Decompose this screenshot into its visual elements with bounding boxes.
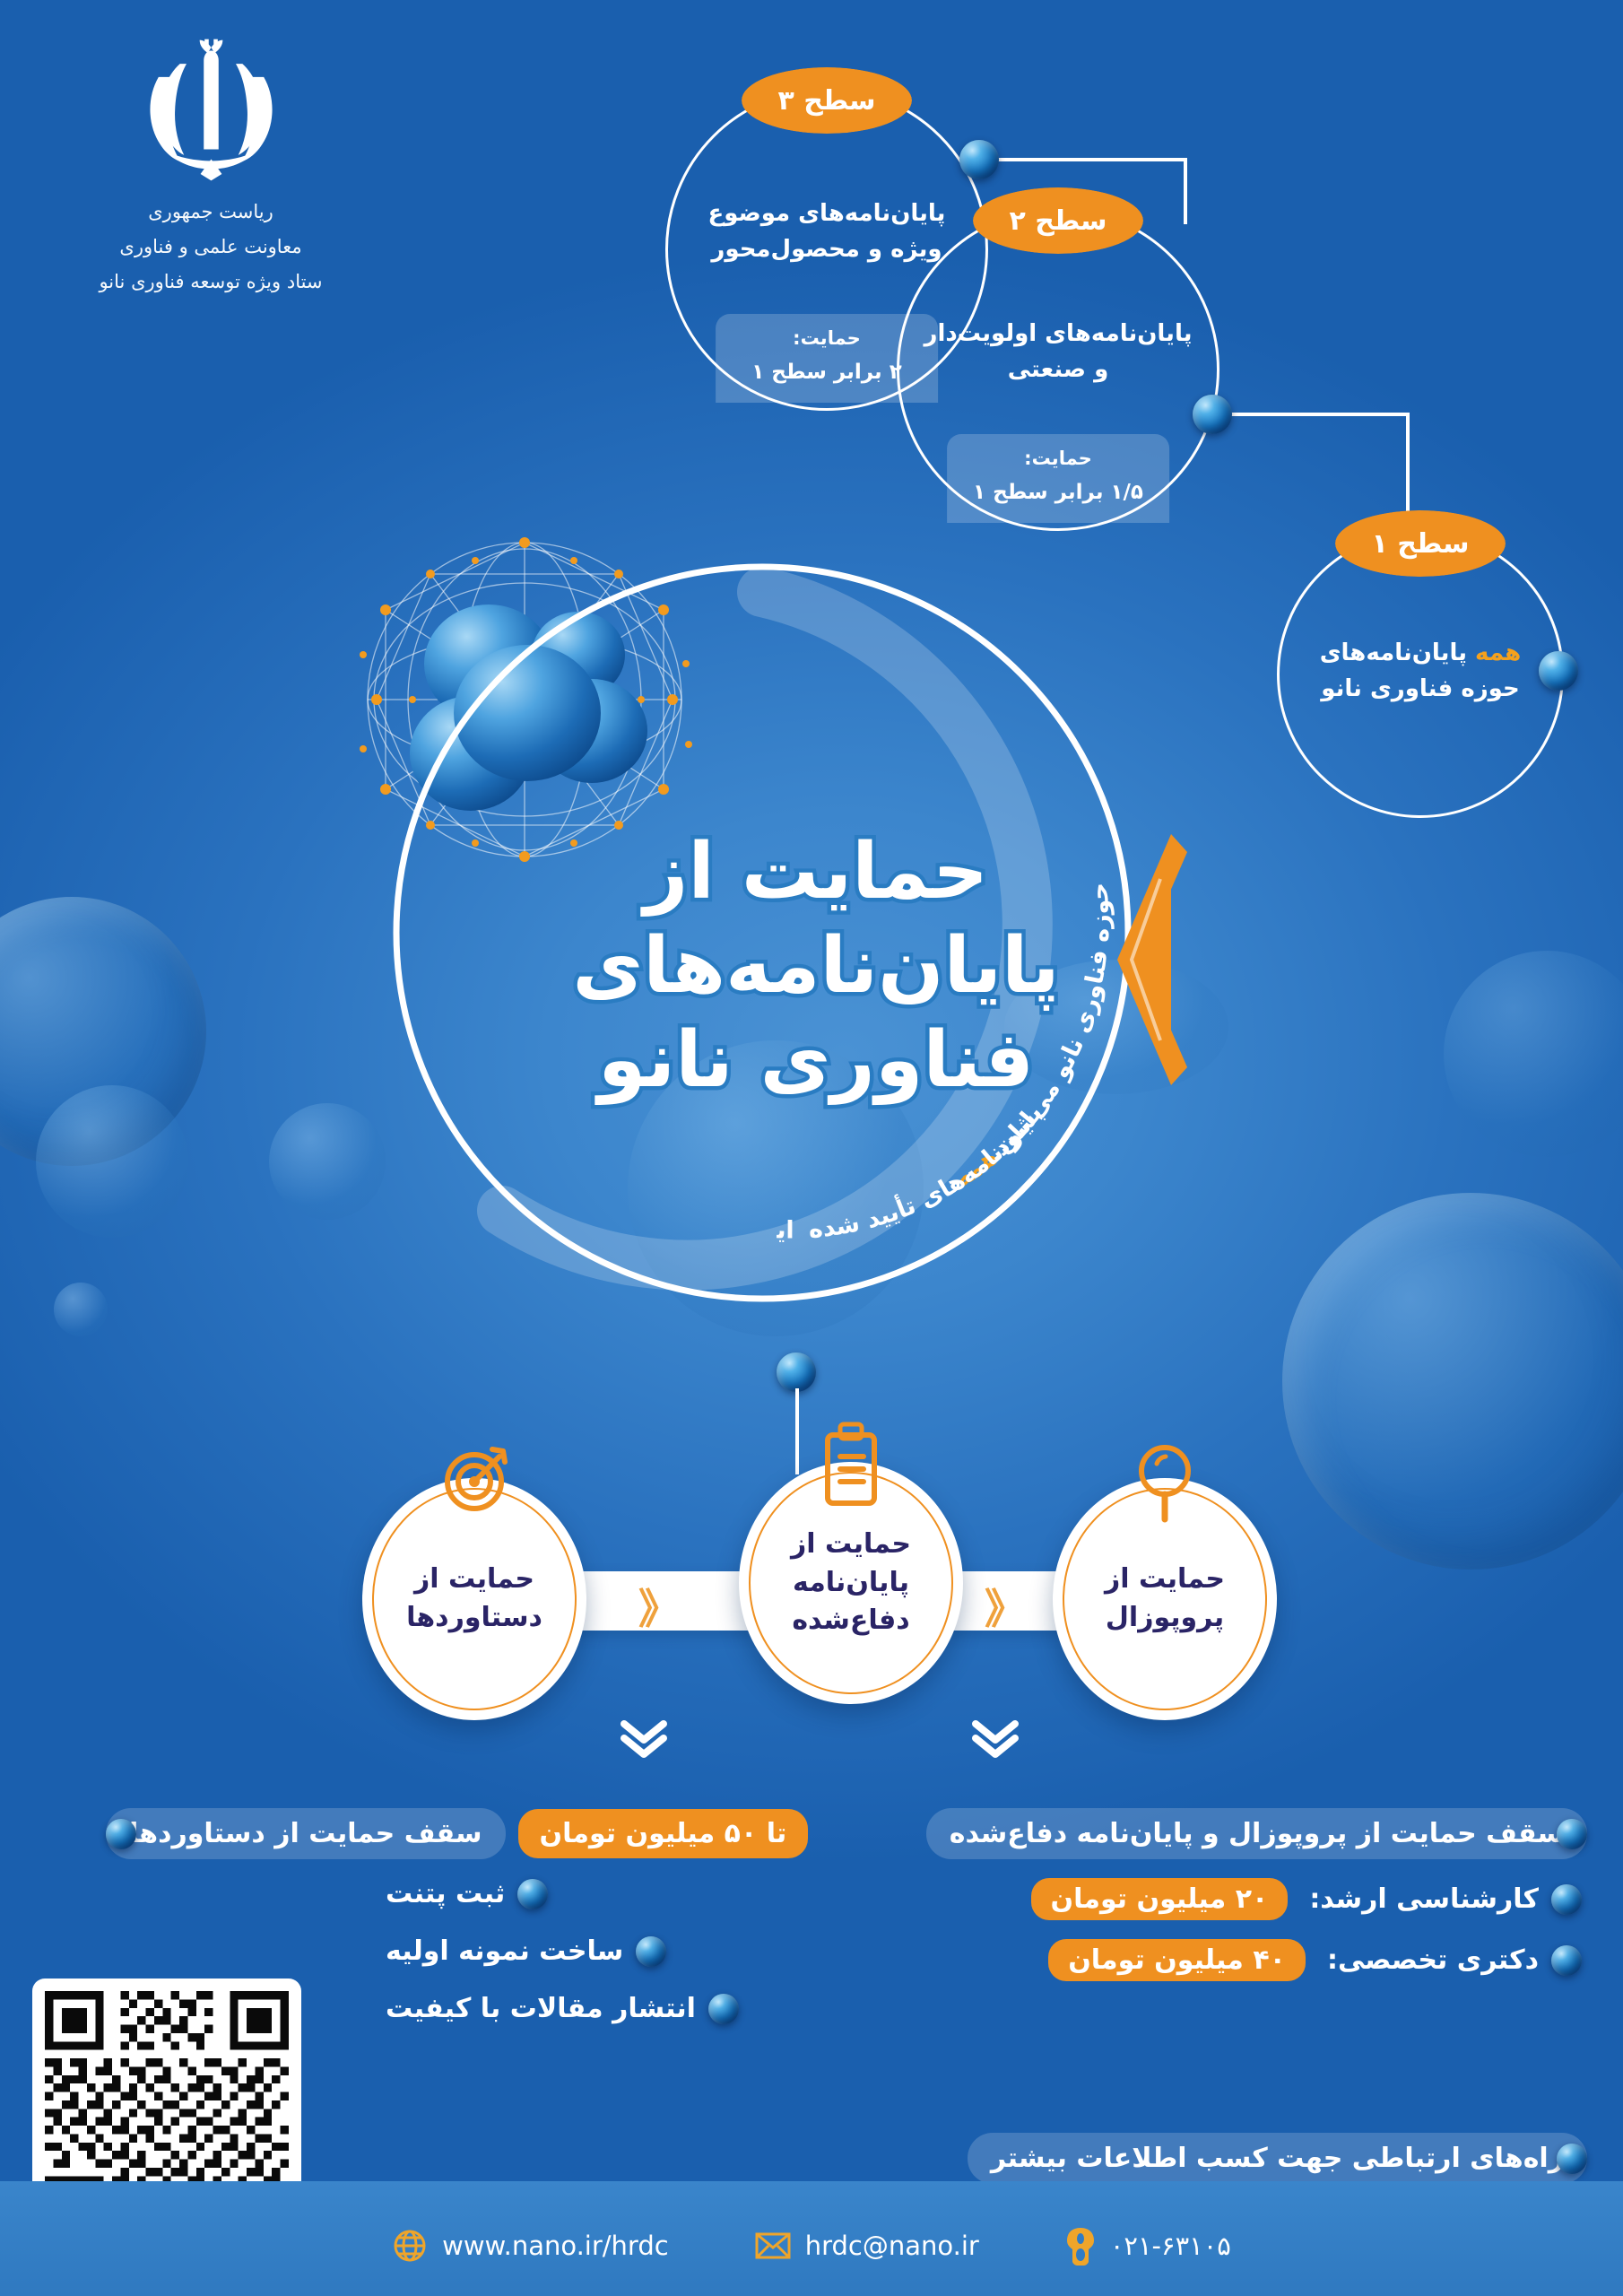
decorative-bubble <box>0 897 206 1166</box>
stage-defended-thesis-line-2: پایان‌نامه <box>793 1567 909 1598</box>
stage-defended-thesis-line-3: دفاع‌شده <box>792 1605 909 1636</box>
stage-defended-thesis-label: حمایت از پایان‌نامه دفاع‌شده <box>773 1526 929 1640</box>
target-icon <box>433 1437 516 1519</box>
support-cap-left-item: ساخت نمونه اولیه <box>386 1935 666 1967</box>
level-3-title: پایان‌نامه‌های موضوع ویژه و محصول‌محور <box>687 196 967 268</box>
decorative-bubble <box>269 1103 386 1220</box>
bullet-sphere-icon <box>708 1994 739 2024</box>
bullet-sphere-icon <box>1551 1945 1582 1976</box>
chevron-down-icon <box>619 1718 669 1758</box>
support-cap-right-item: دکتری تخصصی: ۴۰ میلیون تومان <box>1048 1939 1582 1981</box>
logo-line-2: معاونت علمی و فناوری <box>99 230 323 265</box>
ring-bottom-node <box>777 1352 816 1392</box>
svg-text:همه: همه <box>950 1144 1003 1194</box>
page-title: حمایت از پایان‌نامه‌های فناوری نانو <box>502 825 1130 1108</box>
level-2-circle[interactable]: سطح ۲ پایان‌نامه‌های اولویت‌دار و صنعتی … <box>897 208 1219 531</box>
stage-achievements-label: حمایت از دستاوردها <box>388 1561 560 1637</box>
ring-text-segment-3: پایان‌نامه‌های تأیید شده <box>808 1100 1048 1244</box>
level-2-support: حمایت: ۱/۵ برابر سطح ۱ <box>947 434 1169 523</box>
iran-national-emblem-icon <box>128 36 294 184</box>
website-text: www.nano.ir/hrdc <box>442 2231 669 2261</box>
support-cap-left-item: ثبت پتنت <box>386 1878 548 1909</box>
stage-bridge-chevron-right: 《 <box>985 1577 1026 1636</box>
level-1-title-rest: پایان‌نامه‌های <box>1320 639 1467 666</box>
stage-bridge-chevron-left: 《 <box>638 1577 680 1636</box>
bullet-sphere-icon <box>1557 2144 1587 2174</box>
decorative-bubble <box>54 1283 108 1336</box>
support-cap-right-item: کارشناسی ارشد: ۲۰ میلیون تومان <box>1031 1878 1582 1920</box>
contact-heading: راه‌های ارتباطی جهت کسب اطلاعات بیشتر <box>968 2133 1587 2184</box>
support-cap-left-item: انتشار مقالات با کیفیت <box>386 1993 739 2024</box>
ring-to-stage-connector <box>795 1388 799 1474</box>
support-cap-left-header: سقف حمایت از دستاوردها تا ۵۰ میلیون توما… <box>106 1808 817 1859</box>
level-2-title: پایان‌نامه‌های اولویت‌دار و صنعتی <box>918 316 1198 388</box>
bullet-sphere-icon <box>636 1936 666 1967</box>
phone-text: ۰۲۱-۶۳۱۰۵ <box>1110 2231 1231 2261</box>
level-1-badge: سطح ۱ <box>1335 510 1506 577</box>
stage-achievements-card[interactable]: حمایت از دستاوردها <box>362 1478 586 1720</box>
stage-achievements-line-1: حمایت از <box>414 1563 534 1595</box>
title-line-3: فناوری نانو <box>502 1013 1130 1108</box>
level-1-title: همه پایان‌نامه‌های حوزه فناوری نانو <box>1297 635 1544 708</box>
clipboard-icon <box>813 1421 889 1510</box>
stage-defended-thesis-line-1: حمایت از <box>791 1528 911 1560</box>
title-line-1: حمایت از <box>502 825 1130 919</box>
level-2-badge: سطح ۲ <box>973 187 1143 254</box>
level-1-title-highlight: همه <box>1475 639 1521 666</box>
bullet-sphere-icon <box>1551 1884 1582 1915</box>
organization-logo: ریاست جمهوری معاونت علمی و فناوری ستاد و… <box>99 36 323 300</box>
level-1-circle[interactable]: سطح ۱ همه پایان‌نامه‌های حوزه فناوری نان… <box>1277 531 1564 818</box>
level-3-node-sphere <box>959 140 999 179</box>
stage-proposal-line-1: حمایت از <box>1105 1563 1225 1595</box>
stage-achievements-line-2: دستاوردها <box>406 1602 542 1633</box>
svg-text:پایان‌نامه‌های تأیید شده: پایان‌نامه‌های تأیید شده <box>808 1100 1048 1244</box>
chevron-down-icon <box>970 1718 1020 1758</box>
masters-label: کارشناسی ارشد: <box>1309 1883 1539 1915</box>
level-2-support-label: حمایت: <box>1024 448 1092 469</box>
globe-icon <box>392 2228 428 2264</box>
patent-label: ثبت پتنت <box>386 1878 505 1909</box>
telephone-icon <box>1065 2226 1096 2266</box>
prototype-label: ساخت نمونه اولیه <box>386 1935 623 1967</box>
poster-canvas: ریاست جمهوری معاونت علمی و فناوری ستاد و… <box>0 0 1623 2296</box>
support-cap-left-heading: سقف حمایت از دستاوردها <box>106 1808 506 1859</box>
support-cap-right-heading: سقف حمایت از پروپوزال و پایان‌نامه دفاع‌… <box>926 1808 1587 1859</box>
level-2-support-amount: ۱/۵ برابر سطح ۱ <box>952 475 1164 510</box>
email-text: hrdc@nano.ir <box>805 2231 979 2261</box>
level-1-node-sphere <box>1539 651 1578 691</box>
stage-proposal-label: حمایت از پروپوزال <box>1087 1561 1243 1637</box>
bullet-sphere-icon <box>1557 1819 1587 1849</box>
footer-phone[interactable]: ۰۲۱-۶۳۱۰۵ <box>1065 2226 1231 2266</box>
footer-website[interactable]: www.nano.ir/hrdc <box>392 2228 669 2264</box>
bullet-sphere-icon <box>106 1819 136 1849</box>
decorative-bubble <box>36 1085 188 1238</box>
phd-amount: ۴۰ میلیون تومان <box>1048 1939 1306 1981</box>
phd-label: دکتری تخصصی: <box>1327 1944 1539 1976</box>
contact-header: راه‌های ارتباطی جهت کسب اطلاعات بیشتر <box>968 2133 1587 2184</box>
level-1-title-line2: حوزه فناوری نانو <box>1321 675 1519 702</box>
level-2-node-sphere <box>1193 395 1232 434</box>
title-line-2: پایان‌نامه‌های <box>502 919 1130 1013</box>
logo-line-1: ریاست جمهوری <box>99 195 323 230</box>
achievements-cap-badge: تا ۵۰ میلیون تومان <box>518 1809 809 1858</box>
magnifier-icon <box>1126 1437 1203 1526</box>
stage-proposal-card[interactable]: حمایت از پروپوزال <box>1053 1478 1277 1720</box>
support-cap-right-header: سقف حمایت از پروپوزال و پایان‌نامه دفاع‌… <box>926 1808 1587 1859</box>
footer-contact-list: www.nano.ir/hrdc hrdc@nano.ir ۰۲۱-۶۳۱۰۵ <box>0 2226 1623 2266</box>
stage-proposal-line-2: پروپوزال <box>1106 1602 1224 1633</box>
ring-text-highlight: همه <box>950 1144 1003 1194</box>
logo-line-3: ستاد ویژه توسعه فناوری نانو <box>99 265 323 300</box>
decorative-bubble <box>1444 951 1623 1157</box>
envelope-icon <box>755 2231 791 2260</box>
decorative-bubble <box>1282 1193 1623 1570</box>
level-3-badge: سطح ۳ <box>742 67 912 134</box>
masters-amount: ۲۰ میلیون تومان <box>1031 1878 1289 1920</box>
footer-email[interactable]: hrdc@nano.ir <box>755 2231 979 2261</box>
level-3-support-label: حمایت: <box>793 327 861 349</box>
stage-defended-thesis-card[interactable]: حمایت از پایان‌نامه دفاع‌شده <box>739 1462 963 1704</box>
articles-label: انتشار مقالات با کیفیت <box>386 1993 696 2024</box>
bullet-sphere-icon <box>517 1879 548 1909</box>
